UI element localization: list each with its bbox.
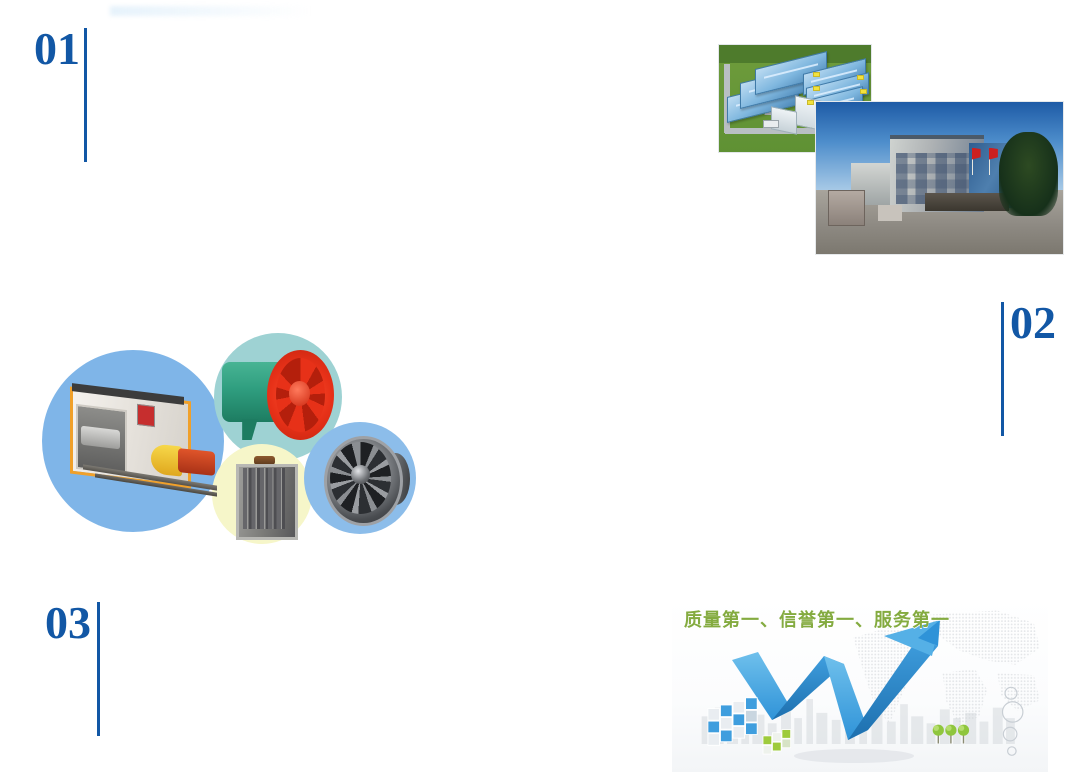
photo-tree	[999, 132, 1058, 216]
bubble-circles-icon	[994, 684, 1028, 762]
render-marker-c	[807, 100, 814, 105]
product-image-cluster	[36, 330, 426, 560]
growth-slogan-banner: 质量第一、信誉第一、服务第一	[672, 598, 1048, 772]
banner-slogan-text: 质量第一、信誉第一、服务第一	[684, 606, 950, 632]
product-box-fan-unit-image	[64, 390, 220, 496]
product-air-damper-filter-image	[236, 456, 292, 534]
axial-fan-mounting-foot	[242, 419, 258, 441]
top-edge-artifact	[110, 6, 310, 16]
impeller-hub	[351, 465, 370, 484]
section-rule-01	[84, 28, 87, 162]
render-marker-a	[813, 72, 820, 77]
render-marker-d	[857, 75, 864, 80]
section-number-02: 02	[1010, 300, 1056, 346]
box-fan-motor	[178, 448, 215, 476]
box-fan-control-panel	[137, 404, 155, 427]
damper-blades	[243, 468, 286, 529]
section-marker-03: 03	[45, 600, 100, 736]
photo-gatehouse	[828, 190, 865, 225]
render-truck	[763, 120, 779, 128]
section-rule-03	[97, 602, 100, 736]
photo-perimeter-wall	[925, 193, 1009, 211]
factory-photograph-image	[815, 101, 1064, 255]
section-marker-02: 02	[1001, 300, 1056, 436]
section-rule-02	[1001, 302, 1004, 436]
render-marker-b	[813, 86, 820, 91]
section-number-01: 01	[34, 26, 80, 72]
blue-cube-cluster-icon	[706, 696, 760, 748]
section-number-03: 03	[45, 600, 91, 646]
green-cube-cluster-icon	[762, 728, 794, 758]
section-marker-01: 01	[34, 26, 87, 162]
render-marker-e	[860, 89, 867, 94]
product-metal-impeller-image	[318, 430, 414, 526]
photo-ground-object	[878, 205, 903, 220]
tree-trio-icon	[932, 720, 974, 746]
